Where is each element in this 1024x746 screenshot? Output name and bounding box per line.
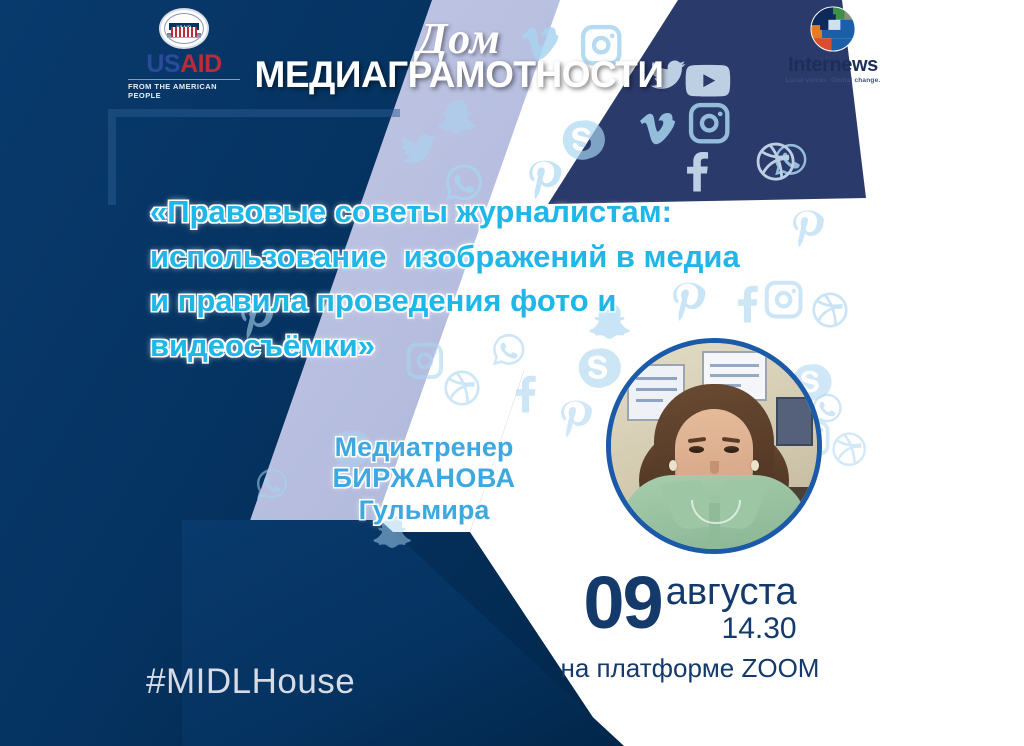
- whatsapp-icon: [257, 469, 287, 499]
- usaid-seal-icon: USAID: [159, 8, 209, 49]
- event-time: 14.30: [666, 612, 797, 645]
- dribbble-icon: [834, 434, 865, 465]
- vimeo-icon: [640, 113, 675, 144]
- trainer-surname: БИРЖАНОВА: [300, 463, 548, 494]
- event-platform: на платформе ZOOM: [520, 653, 860, 684]
- event-hashtag: #MIDLHouse: [146, 662, 355, 702]
- twitter-icon: [400, 135, 435, 163]
- facebook-icon: [687, 152, 708, 191]
- skype-icon: [563, 120, 605, 160]
- snapchat-icon: [437, 100, 476, 133]
- title-literacy-word: МЕДИАГРАМОТНОСТИ: [244, 56, 674, 93]
- event-month-name: августа: [666, 574, 797, 610]
- facebook-icon: [516, 376, 536, 413]
- webinar-announcement-poster: USAID USAID FROM THE AMERICAN PEOPLE: [0, 0, 1024, 746]
- instagram-icon: [689, 103, 730, 144]
- trainer-given-name: Гульмира: [300, 495, 548, 526]
- usaid-tagline: FROM THE AMERICAN PEOPLE: [128, 79, 240, 100]
- internews-tagline: Local voices. Global change.: [786, 77, 881, 84]
- headline-line-1: «Правовые советы журналистам:: [150, 190, 830, 235]
- trainer-role: Медиатренер: [300, 432, 548, 463]
- usaid-word-us: US: [146, 50, 180, 78]
- trainer-credit: Медиатренер БИРЖАНОВА Гульмира: [300, 432, 548, 526]
- page-title: Дом МЕДИАГРАМОТНОСТИ: [244, 18, 674, 93]
- speaker-portrait-photo: [606, 338, 822, 554]
- usaid-word-aid: AID: [180, 50, 222, 78]
- event-datetime-block: 09 августа 14.30 на платформе ZOOM: [520, 570, 860, 684]
- dribbble-icon: [446, 372, 479, 405]
- social-icon-watermarks: [0, 0, 1024, 746]
- headline-line-3: и правила проведения фото и: [150, 279, 830, 324]
- pinterest-icon: [561, 401, 592, 438]
- internews-globe-icon: [810, 6, 856, 52]
- youtube-icon: [686, 65, 731, 97]
- headline-line-2: использование изображений в медиа: [150, 235, 830, 280]
- usaid-wordmark: USAID: [146, 52, 221, 77]
- internews-logo: Internews Local voices. Global change.: [762, 6, 904, 98]
- usaid-logo: USAID USAID FROM THE AMERICAN PEOPLE: [128, 8, 240, 100]
- event-day-number: 09: [583, 570, 661, 637]
- internews-wordmark: Internews: [788, 55, 878, 75]
